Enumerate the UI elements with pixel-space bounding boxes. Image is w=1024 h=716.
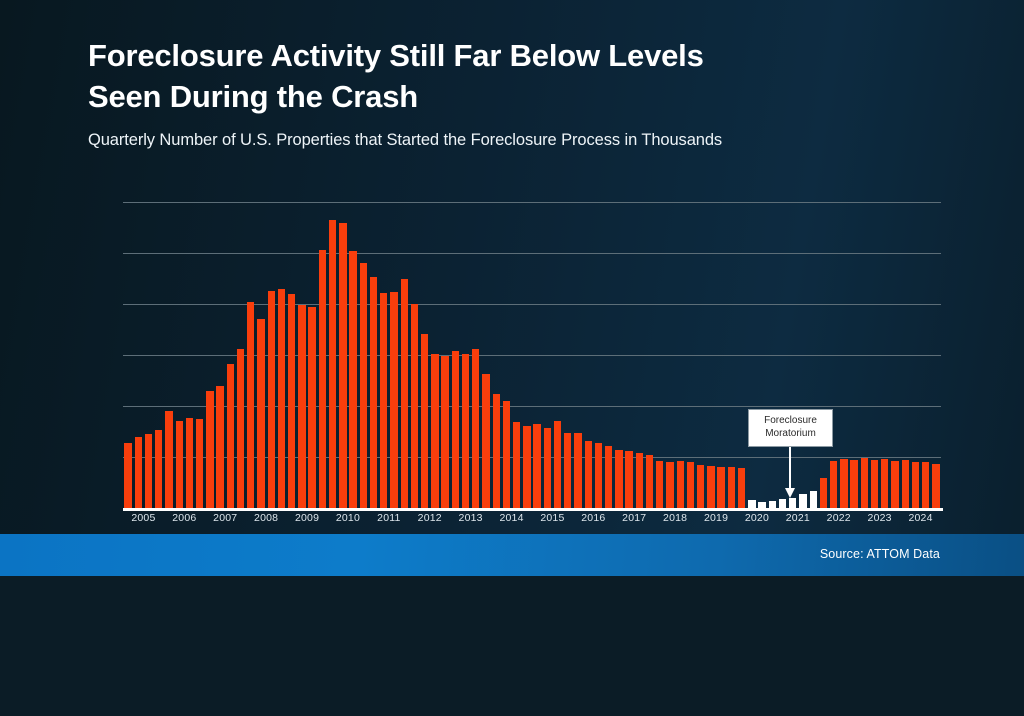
x-axis-tick-label: 2006	[172, 512, 196, 524]
bar	[789, 498, 796, 508]
bar	[370, 277, 377, 508]
x-axis-tick-label: 2020	[745, 512, 769, 524]
bar	[401, 279, 408, 509]
bar	[881, 459, 888, 508]
bar	[861, 458, 868, 508]
bar	[779, 499, 786, 508]
x-axis-tick-label: 2022	[827, 512, 851, 524]
bar	[922, 462, 929, 508]
bar	[247, 302, 254, 508]
bar	[738, 468, 745, 508]
bar-series	[123, 202, 941, 508]
bar	[135, 437, 142, 508]
bar	[462, 354, 469, 508]
bar	[145, 434, 152, 508]
bar	[278, 289, 285, 508]
x-axis-tick-label: 2013	[459, 512, 483, 524]
bar	[656, 461, 663, 508]
bar	[329, 220, 336, 508]
bar	[533, 424, 540, 508]
annotation-arrow-icon	[789, 447, 791, 489]
bar	[871, 460, 878, 508]
bar	[452, 351, 459, 508]
bar	[850, 460, 857, 508]
bar	[585, 441, 592, 508]
bar	[912, 462, 919, 508]
bar	[380, 293, 387, 508]
bar	[697, 465, 704, 508]
x-axis-tick-label: 2018	[663, 512, 687, 524]
bar	[339, 223, 346, 508]
bar	[196, 419, 203, 508]
x-axis-tick-label: 2005	[131, 512, 155, 524]
bar	[206, 391, 213, 508]
bar	[677, 461, 684, 508]
x-axis-tick-label: 2014	[499, 512, 523, 524]
bar	[625, 451, 632, 508]
bar	[748, 500, 755, 508]
x-axis-tick-label: 2017	[622, 512, 646, 524]
bar	[155, 430, 162, 508]
bar	[891, 461, 898, 508]
bar	[902, 460, 909, 508]
bar	[554, 421, 561, 508]
bar	[840, 459, 847, 508]
bar	[165, 411, 172, 508]
bar	[646, 455, 653, 508]
x-axis-tick-label: 2008	[254, 512, 278, 524]
x-axis-tick-label: 2009	[295, 512, 319, 524]
bar	[564, 433, 571, 508]
bar	[421, 334, 428, 508]
bar	[605, 446, 612, 508]
y-axis-labels: 0100,000200,000300,000400,000500,000600,…	[0, 202, 1, 508]
bar	[830, 461, 837, 508]
bar	[268, 291, 275, 508]
bar	[932, 464, 939, 508]
x-axis-tick-label: 2011	[377, 512, 400, 524]
bar	[176, 421, 183, 508]
x-axis-tick-label: 2024	[908, 512, 932, 524]
source-label: Source: ATTOM Data	[820, 547, 940, 561]
bar	[360, 263, 367, 508]
bar	[799, 494, 806, 508]
bar	[390, 292, 397, 508]
bar	[411, 304, 418, 508]
bar	[349, 251, 356, 508]
bar	[503, 401, 510, 508]
x-axis-tick-label: 2021	[786, 512, 810, 524]
x-axis-tick-label: 2012	[418, 512, 442, 524]
bar	[493, 394, 500, 508]
x-axis-tick-label: 2023	[868, 512, 892, 524]
header: Foreclosure Activity Still Far Below Lev…	[88, 36, 988, 150]
bar	[216, 386, 223, 508]
bar	[472, 349, 479, 508]
bar	[728, 467, 735, 508]
x-axis-tick-label: 2016	[581, 512, 605, 524]
bar	[288, 294, 295, 508]
bar	[544, 428, 551, 508]
x-axis-tick-label: 2007	[213, 512, 237, 524]
x-axis-tick-label: 2019	[704, 512, 728, 524]
annotation-callout: Foreclosure Moratorium	[748, 409, 833, 447]
bar	[666, 462, 673, 508]
bar	[482, 374, 489, 508]
bar	[441, 356, 448, 508]
bar	[186, 418, 193, 508]
bar	[574, 433, 581, 508]
bar	[124, 443, 131, 508]
bar	[615, 450, 622, 508]
bar	[431, 354, 438, 508]
bar	[319, 250, 326, 508]
chart-plot-area	[123, 202, 941, 508]
x-axis-line	[123, 508, 943, 511]
bar	[257, 319, 264, 508]
bar	[707, 466, 714, 508]
bar	[636, 453, 643, 508]
bar	[227, 364, 234, 508]
slide-background: Foreclosure Activity Still Far Below Lev…	[0, 0, 1024, 576]
bar	[513, 422, 520, 508]
x-axis-tick-label: 2010	[336, 512, 360, 524]
x-axis-tick-label: 2015	[540, 512, 564, 524]
bar	[298, 305, 305, 508]
bar	[820, 478, 827, 508]
page-title: Foreclosure Activity Still Far Below Lev…	[88, 36, 988, 118]
footer-bar: Source: ATTOM Data	[0, 534, 1024, 576]
bar	[810, 491, 817, 508]
bar	[595, 443, 602, 508]
bar	[769, 501, 776, 508]
bar	[237, 349, 244, 508]
bar	[687, 462, 694, 508]
x-axis-labels: 2005200620072008200920102011201220132014…	[123, 512, 941, 532]
bar	[717, 467, 724, 508]
bar	[523, 426, 530, 508]
page-subtitle: Quarterly Number of U.S. Properties that…	[88, 131, 988, 150]
bar	[308, 307, 315, 508]
